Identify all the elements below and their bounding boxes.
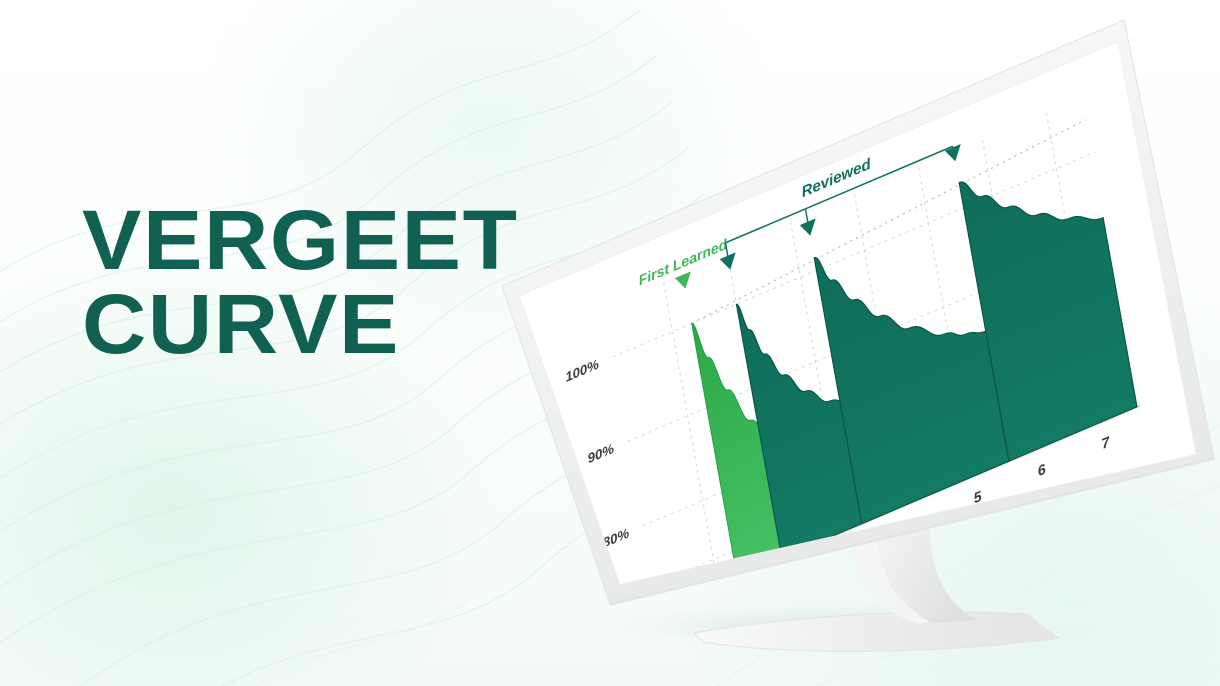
monitor-stand-base bbox=[694, 612, 1058, 651]
x-tick-label: 0 bbox=[653, 625, 663, 643]
page-title-line-1: VERGEET bbox=[82, 204, 519, 276]
x-tick-label: 2 bbox=[780, 570, 791, 589]
page-title: VERGEET CURVE bbox=[82, 204, 494, 360]
x-tick-label: 1 bbox=[717, 598, 727, 616]
y-tick-label: 70% bbox=[617, 610, 645, 635]
monitor-mockup: 70%70%80%90%100% 01234567 Days Retention… bbox=[498, 8, 1218, 678]
page-title-line-2: CURVE bbox=[82, 288, 519, 360]
